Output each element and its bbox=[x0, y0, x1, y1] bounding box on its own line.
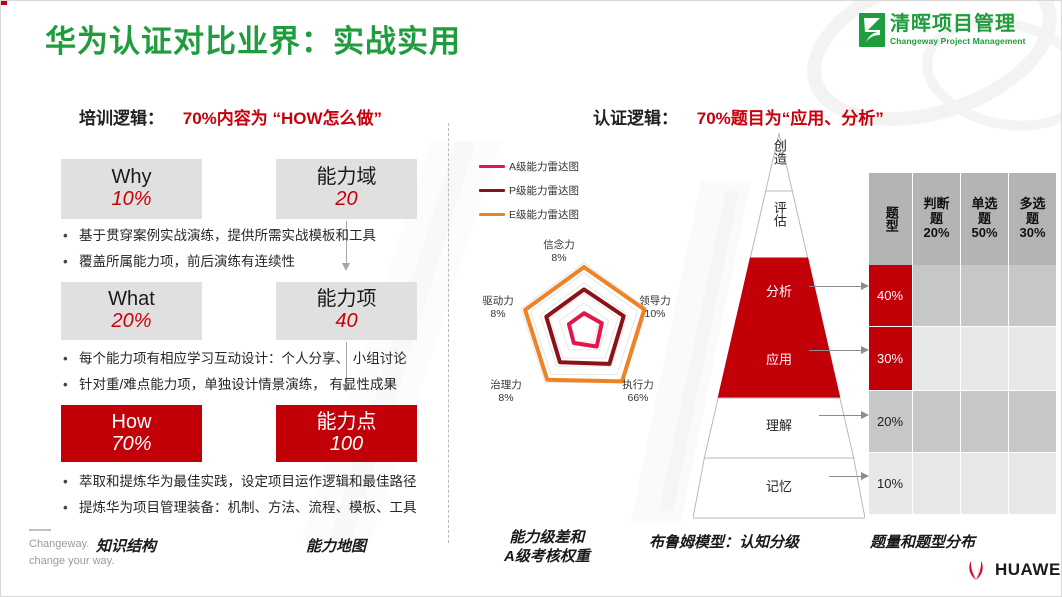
table-cell bbox=[1009, 327, 1057, 391]
changeway-z-mark-icon bbox=[859, 13, 885, 47]
bullet-text: 提炼华为项目管理装备：机制、方法、流程、模板、工具 bbox=[79, 500, 417, 515]
bullet-item: •每个能力项有相应学习互动设计：个人分享、 小组讨论 bbox=[63, 346, 407, 372]
flow-box-title: Why bbox=[112, 167, 152, 188]
flow-box-capability-domain[interactable]: 能力域 20 bbox=[276, 159, 417, 219]
table-row: 20% bbox=[869, 391, 913, 453]
legend-label: P级能力雷达图 bbox=[509, 183, 579, 198]
pyramid-level-label-2: 分析 bbox=[749, 285, 809, 299]
arrow-application-to-row-2 bbox=[809, 346, 869, 355]
bullet-item: •基于贯穿案例实战演练，提供所需实战模板和工具 bbox=[63, 223, 376, 249]
table-cell bbox=[961, 453, 1009, 515]
legend-label: A级能力雷达图 bbox=[509, 159, 579, 174]
page-title: 华为认证对比业界：实战实用 bbox=[45, 16, 461, 61]
huawei-fan-icon bbox=[964, 559, 988, 581]
flow-box-title: 能力项 bbox=[317, 289, 377, 310]
pyramid-level-label-4: 理解 bbox=[749, 419, 809, 433]
bullet-item: •提炼华为项目管理装备：机制、方法、流程、模板、工具 bbox=[63, 495, 417, 521]
flow-box-value: 70% bbox=[111, 433, 151, 456]
footer-line-1: Changeway. bbox=[29, 536, 114, 553]
caption-bloom: 布鲁姆模型：认知分级 bbox=[649, 531, 799, 552]
bullet-text: 每个能力项有相应学习互动设计：个人分享、 小组讨论 bbox=[79, 351, 407, 366]
radar-label-2: 执行力66% bbox=[607, 379, 669, 405]
table-cell bbox=[1009, 453, 1057, 515]
table-cell bbox=[961, 327, 1009, 391]
footer-rule bbox=[29, 529, 51, 531]
flow-box-title: 能力点 bbox=[317, 412, 377, 433]
table-header-cell: 单选题50% bbox=[961, 173, 1009, 265]
table-cell bbox=[1009, 391, 1057, 453]
changeway-logo: 清晖项目管理 Changeway Project Management bbox=[859, 13, 1026, 47]
caption-table: 题量和题型分布 bbox=[870, 531, 975, 552]
legend-item[interactable]: A级能力雷达图 bbox=[479, 159, 579, 174]
right-heading-accent: 70%题目为“应用、分析” bbox=[697, 109, 884, 128]
cell-value: 30% bbox=[877, 351, 903, 366]
caption-radar: 能力级差和 A级考核权重 bbox=[504, 529, 590, 567]
table-column-single-choice: 单选题50% bbox=[961, 173, 1009, 515]
changeway-logo-en: Changeway Project Management bbox=[890, 37, 1026, 46]
table-cell bbox=[1009, 265, 1057, 327]
bullet-item: •覆盖所属能力项，前后演练有连续性 bbox=[63, 249, 376, 275]
flow-box-capability-item[interactable]: 能力项 40 bbox=[276, 282, 417, 340]
arrow-analysis-to-row-1 bbox=[809, 282, 869, 291]
table-cell bbox=[961, 265, 1009, 327]
bullet-text: 覆盖所属能力项，前后演练有连续性 bbox=[79, 254, 295, 269]
table-column-judgement: 判断题20% bbox=[913, 173, 961, 515]
changeway-logo-cn: 清晖项目管理 bbox=[890, 14, 1026, 34]
table-row: 40% bbox=[869, 265, 913, 327]
table-header-cell: 题型 bbox=[869, 173, 913, 265]
left-panel-heading: 培训逻辑： 70%内容为 “HOW怎么做” bbox=[79, 104, 382, 129]
left-heading-accent: 70%内容为 “HOW怎么做” bbox=[183, 109, 382, 128]
radar-label-0: 信念力8% bbox=[519, 239, 599, 265]
bullet-item: •针对重/难点能力项，单独设计情景演练， 有显性成果 bbox=[63, 372, 407, 398]
pyramid-level-label-3: 应用 bbox=[749, 353, 809, 367]
table-column-type: 题型 40% 30% 20% 10% bbox=[869, 173, 913, 515]
cell-value: 20% bbox=[877, 414, 903, 429]
table-cell bbox=[913, 265, 961, 327]
legend-swatch-p bbox=[479, 189, 505, 192]
flow-box-value: 10% bbox=[111, 188, 151, 211]
left-bullets-group-2: •每个能力项有相应学习互动设计：个人分享、 小组讨论 •针对重/难点能力项，单独… bbox=[63, 346, 407, 399]
bullet-item: •萃取和提炼华为最佳实践，设定项目运作逻辑和最佳路径 bbox=[63, 469, 417, 495]
flow-box-value: 100 bbox=[330, 433, 363, 456]
table-header-cell: 多选题30% bbox=[1009, 173, 1057, 265]
table-column-multi-choice: 多选题30% bbox=[1009, 173, 1057, 515]
right-panel-heading: 认证逻辑： 70%题目为“应用、分析” bbox=[593, 104, 884, 129]
table-cell bbox=[913, 391, 961, 453]
legend-swatch-e bbox=[479, 213, 505, 216]
flow-box-value: 20% bbox=[111, 310, 151, 333]
left-bullets-group-1: •基于贯穿案例实战演练，提供所需实战模板和工具 •覆盖所属能力项，前后演练有连续… bbox=[63, 223, 376, 276]
huawei-logo: HUAWEI bbox=[964, 559, 1062, 581]
flow-box-value: 20 bbox=[335, 188, 357, 211]
changeway-footer: Changeway. change your way. bbox=[29, 529, 114, 569]
bullet-text: 萃取和提炼华为最佳实践，设定项目运作逻辑和最佳路径 bbox=[79, 474, 417, 489]
flow-box-what[interactable]: What 20% bbox=[61, 282, 202, 340]
table-cell bbox=[961, 391, 1009, 453]
flow-box-title: How bbox=[111, 412, 151, 433]
question-distribution-table: 题型 40% 30% 20% 10% 判断题20% bbox=[869, 173, 1057, 515]
legend-item[interactable]: P级能力雷达图 bbox=[479, 183, 579, 198]
panel-divider bbox=[448, 123, 449, 543]
right-heading-label: 认证逻辑： bbox=[593, 109, 678, 128]
pyramid-level-label-5: 记忆 bbox=[749, 480, 809, 494]
flow-box-capability-point[interactable]: 能力点 100 bbox=[276, 405, 417, 462]
huawei-wordmark: HUAWEI bbox=[995, 560, 1062, 580]
pyramid-level-label-1: 评估 bbox=[749, 201, 809, 231]
table-header-cell: 判断题20% bbox=[913, 173, 961, 265]
flow-box-title: What bbox=[108, 289, 155, 310]
radar-label-3: 治理力8% bbox=[475, 379, 537, 405]
cell-value: 40% bbox=[877, 288, 903, 303]
left-bullets-group-3: •萃取和提炼华为最佳实践，设定项目运作逻辑和最佳路径 •提炼华为项目管理装备：机… bbox=[63, 469, 417, 522]
left-heading-label: 培训逻辑： bbox=[79, 109, 164, 128]
bullet-text: 基于贯穿案例实战演练，提供所需实战模板和工具 bbox=[79, 228, 376, 243]
bullet-text: 针对重/难点能力项，单独设计情景演练， 有显性成果 bbox=[79, 377, 397, 392]
legend-swatch-a bbox=[479, 165, 505, 168]
flow-box-value: 40 bbox=[335, 310, 357, 333]
table-cell bbox=[913, 327, 961, 391]
legend-item[interactable]: E级能力雷达图 bbox=[479, 207, 579, 222]
table-row: 10% bbox=[869, 453, 913, 515]
legend-label: E级能力雷达图 bbox=[509, 207, 579, 222]
flow-box-title: 能力域 bbox=[317, 167, 377, 188]
flow-box-how[interactable]: How 70% bbox=[61, 405, 202, 462]
radar-chart: 信念力8% 领导力10% 执行力66% 治理力8% 驱动力8% bbox=[479, 233, 689, 418]
arrow-understand-to-row-3 bbox=[819, 411, 869, 420]
table-row: 30% bbox=[869, 327, 913, 391]
cell-value: 10% bbox=[877, 476, 903, 491]
radar-label-1: 领导力10% bbox=[624, 295, 686, 321]
radar-legend: A级能力雷达图 P级能力雷达图 E级能力雷达图 bbox=[479, 159, 579, 231]
pyramid-svg bbox=[693, 133, 865, 523]
footer-line-2: change your way. bbox=[29, 553, 114, 570]
arrow-memory-to-row-4 bbox=[829, 472, 869, 481]
flow-box-why[interactable]: Why 10% bbox=[61, 159, 202, 219]
caption-capability-map: 能力地图 bbox=[306, 535, 366, 556]
top-left-red-mark bbox=[1, 1, 7, 5]
bloom-pyramid: 创造 评估 分析 应用 理解 记忆 bbox=[693, 133, 865, 523]
radar-label-4: 驱动力8% bbox=[467, 295, 529, 321]
table-cell bbox=[913, 453, 961, 515]
slide-canvas: 华为认证对比业界：实战实用 清晖项目管理 Changeway Project M… bbox=[0, 0, 1062, 597]
pyramid-level-label-0: 创造 bbox=[749, 139, 809, 169]
